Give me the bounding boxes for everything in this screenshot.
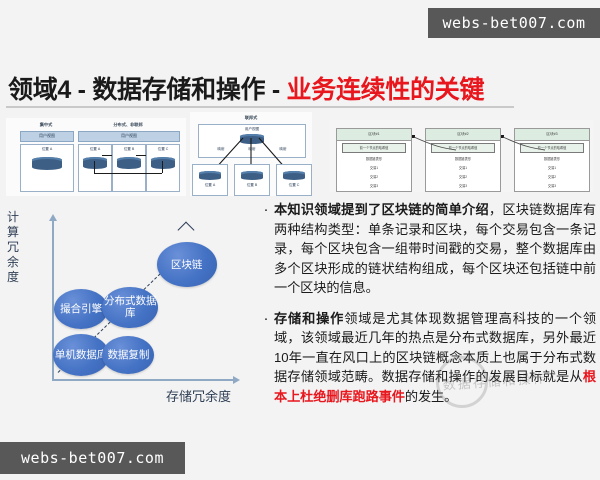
bubble-区块链: 区块链 — [157, 242, 217, 286]
connector-ab — [102, 155, 112, 156]
centralized-user-view-bar: 用户视图 — [20, 131, 74, 142]
diagram-centralized-distributed: 集中式 分布式、非联邦 用户视图 位置 A 用户视图 位置 A 位置 B 位置 … — [6, 118, 186, 196]
distributed-db-cylinder-c — [151, 157, 175, 169]
distributed-user-view-label: 用户视图 — [79, 132, 179, 139]
distributed-location-b-box: 位置 B — [112, 144, 146, 192]
chart-x-axis — [52, 379, 234, 381]
caption-centralized: 集中式 — [24, 122, 68, 128]
bullet-text-2: 存储和操作领域是尤其体现数据管理高科技的一个领域，该领域最近几年的热点是分布式数… — [274, 309, 596, 407]
bullet-2-bold: 存储和操作 — [274, 311, 344, 326]
bullet-item-2: · 存储和操作领域是尤其体现数据管理高科技的一个领域，该领域最近几年的热点是分布… — [258, 309, 596, 407]
federated-location-b-box: 位置 B — [234, 164, 270, 196]
title-black-text: 领域4 - 数据存储和操作 - — [8, 76, 287, 104]
chart-trend-arrowhead — [178, 222, 195, 239]
federated-db-cylinder-b — [241, 171, 263, 180]
connector-bottom — [94, 173, 162, 174]
federated-location-c-box: 位置 C — [276, 164, 312, 196]
bullet-1-bold: 本知识领域提到了区块链的简单介绍 — [274, 202, 489, 217]
bullet-list: · 本知识领域提到了区块链的简单介绍，区块链数据库有两种结构类型：单条记录和区块… — [258, 200, 596, 417]
title-underline — [6, 106, 514, 108]
distributed-db-cylinder-b — [117, 157, 141, 169]
bullet-text-1: 本知识领域提到了区块链的简单介绍，区块链数据库有两种结构类型：单条记录和区块，每… — [274, 200, 596, 298]
distributed-location-b-label: 位置 B — [113, 147, 145, 152]
title-red-text: 业务连续性的关键 — [287, 76, 485, 104]
bubble-单机数据库: 单机数据库 — [53, 334, 109, 375]
federated-location-b-label: 位置 B — [235, 183, 269, 188]
distributed-user-view-bar: 用户视图 — [78, 131, 180, 142]
federated-location-c-label: 位置 C — [277, 183, 311, 188]
centralized-location-a-box: 位置 A — [20, 144, 74, 192]
chart-x-axis-label: 存储冗余度 — [166, 386, 231, 405]
distributed-location-a-box: 位置 A — [78, 144, 112, 192]
distributed-location-a-label: 位置 A — [79, 147, 111, 152]
diagram-federated: 联邦式 用户视图 映射 映射 映射 位置 A — [190, 112, 312, 196]
distributed-location-c-box: 位置 C — [146, 144, 180, 192]
federated-location-a-label: 位置 A — [193, 183, 227, 188]
bullet-item-1: · 本知识领域提到了区块链的简单介绍，区块链数据库有两种结构类型：单条记录和区块… — [258, 200, 596, 298]
connector-bc — [136, 155, 146, 156]
watermark-bottom-left: webs-bet007.com — [0, 442, 185, 474]
bullet-marker-2: · — [258, 309, 274, 407]
chart-y-axis-label: 计算冗余度 — [2, 210, 24, 285]
caption-distributed: 分布式、非联邦 — [80, 122, 176, 128]
slide-canvas: 领域4 - 数据存储和操作 - 业务连续性的关键 集中式 分布式、非联邦 用户视… — [0, 0, 600, 480]
distributed-db-cylinder-a — [83, 157, 107, 169]
connector-a-down — [94, 161, 95, 173]
federated-db-cylinder-c — [283, 171, 305, 180]
watermark-top-right: webs-bet007.com — [428, 8, 600, 38]
bubble-分布式数据库: 分布式数据库 — [102, 287, 158, 328]
distributed-location-c-label: 位置 C — [147, 147, 179, 152]
diagram-blockchain: 区块#1 前一个节点的哈希值 数据链表形 交易1 交易2 交易3 区块#2 前一… — [330, 120, 594, 192]
federated-db-cylinder-a — [199, 171, 221, 180]
page-title: 领域4 - 数据存储和操作 - 业务连续性的关键 — [8, 70, 548, 106]
connector-c-down — [162, 161, 163, 173]
bubble-撮合引擎: 撮合引擎 — [54, 289, 108, 329]
chain-links — [330, 120, 594, 192]
centralized-location-a-label: 位置 A — [21, 147, 73, 152]
bubble-数据复制: 数据复制 — [102, 336, 154, 374]
centralized-user-view-label: 用户视图 — [21, 132, 73, 139]
centralized-db-cylinder — [32, 157, 62, 170]
bullet-marker-1: · — [258, 200, 274, 298]
bullet-2-tail: 的发生。 — [405, 389, 457, 404]
bubble-chart: 计算冗余度 存储冗余度 单机数据库 数据复制 撮合引擎 分布式数据库 区块链 — [0, 196, 252, 412]
federated-location-a-box: 位置 A — [192, 164, 228, 196]
